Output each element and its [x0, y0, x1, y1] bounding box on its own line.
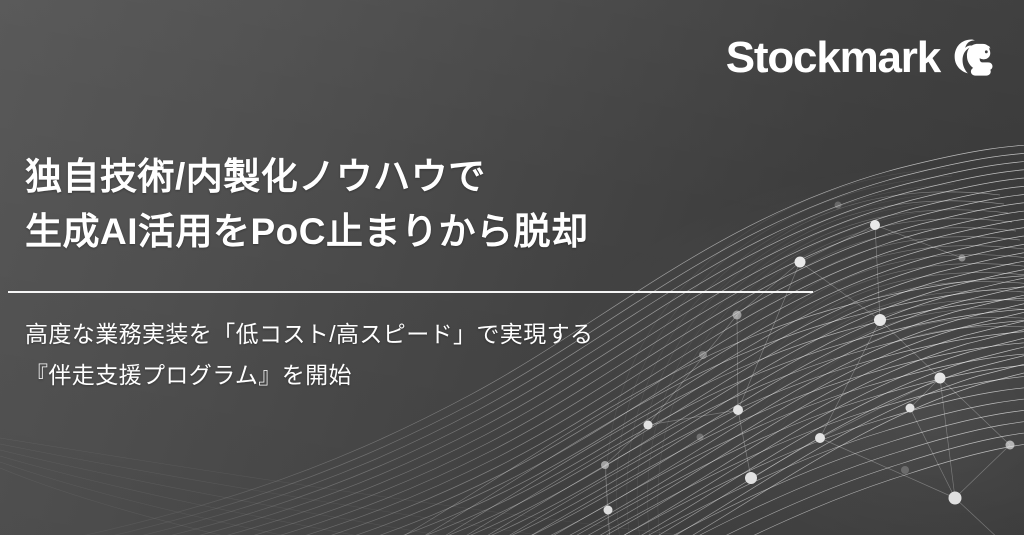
- logo-wordmark: Stockmark: [726, 36, 940, 80]
- subhead-line-1: 高度な業務実装を「低コスト/高スピード」で実現する: [25, 314, 593, 355]
- squirrel-icon: [952, 36, 996, 80]
- subhead-line-2: 『伴走支援プログラム』を開始: [25, 355, 593, 396]
- page-subtitle: 高度な業務実装を「低コスト/高スピード」で実現する 『伴走支援プログラム』を開始: [25, 314, 593, 396]
- title-divider: [8, 291, 813, 293]
- press-release-banner: Stockmark 独自技術/内製化ノウハウで 生成AI活用をPoC止まりから脱…: [0, 0, 1024, 535]
- headline-line-1: 独自技術/内製化ノウハウで: [25, 150, 589, 205]
- headline-line-2: 生成AI活用をPoC止まりから脱却: [25, 205, 589, 260]
- stockmark-logo: Stockmark: [726, 36, 996, 80]
- page-title: 独自技術/内製化ノウハウで 生成AI活用をPoC止まりから脱却: [25, 150, 589, 260]
